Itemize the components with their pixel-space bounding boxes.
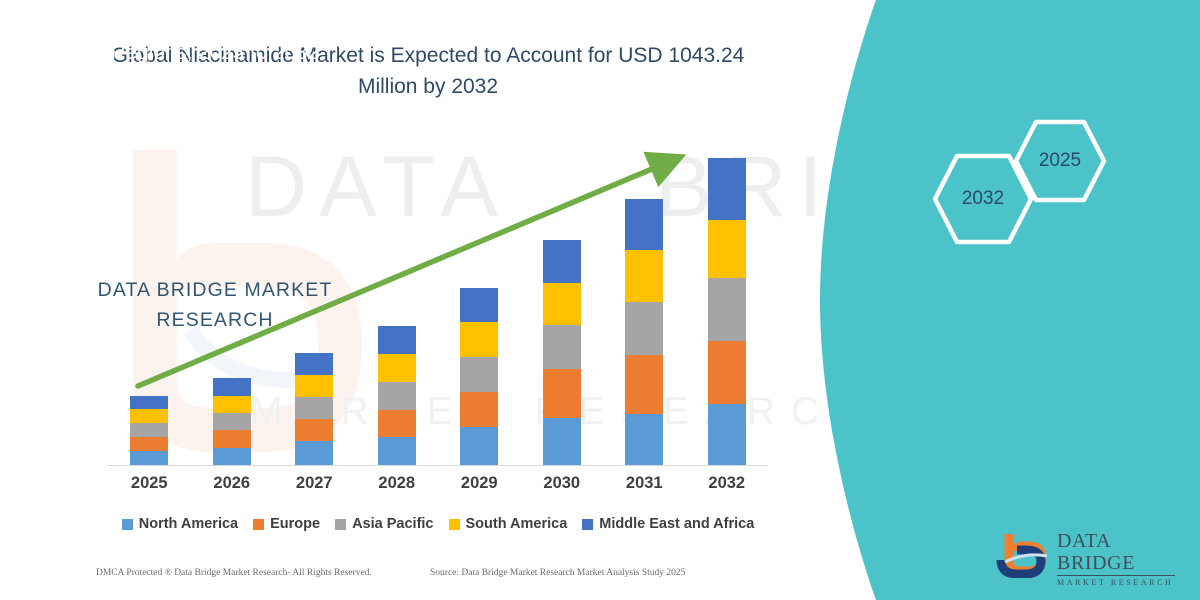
panel-title: Global Niacinamide Market, By Regions, 2… bbox=[40, 8, 390, 68]
infographic-canvas: DATA BRIDGE MARKET RESEARCH Global Niaci… bbox=[0, 0, 1200, 600]
hexagon-start-year-label: 2025 bbox=[1012, 118, 1108, 204]
data-bridge-logo-icon bbox=[995, 530, 1055, 578]
company-logo: DATA BRIDGE MARKET RESEARCH bbox=[995, 528, 1185, 580]
logo-subtitle: MARKET RESEARCH bbox=[1057, 578, 1185, 587]
logo-divider bbox=[1057, 575, 1175, 576]
hexagon-start-year: 2025 bbox=[1012, 118, 1108, 204]
logo-text: DATA BRIDGE MARKET RESEARCH bbox=[1057, 530, 1185, 587]
brand-panel-content: Global Niacinamide Market, By Regions, 2… bbox=[0, 0, 1200, 600]
logo-title: DATA BRIDGE bbox=[1057, 530, 1185, 574]
brand-name: DATA BRIDGE MARKET RESEARCH bbox=[40, 275, 390, 335]
